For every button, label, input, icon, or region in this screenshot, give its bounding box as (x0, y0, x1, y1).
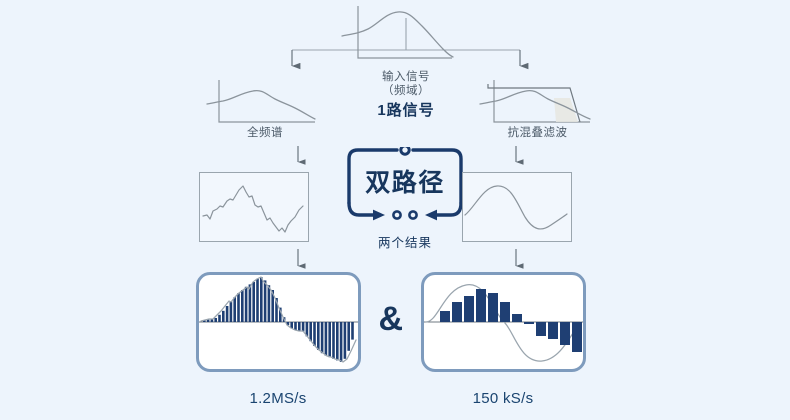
input-signal-label-line2: （频域） (356, 82, 456, 98)
low-rate-sampling-chart (424, 275, 583, 369)
input-chart-axes (358, 6, 452, 58)
dual-path-badge: 双路径 (345, 147, 465, 225)
full-spectrum-axes (219, 80, 315, 122)
high-rate-sampling-chart (199, 275, 358, 369)
badge-bottom-left-arm (349, 203, 373, 215)
full-spectrum-chart (205, 78, 325, 128)
diagram-canvas: 输入信号 （频域） 1路信号 全频谱 抗混叠滤波 (0, 0, 790, 420)
noisy-waveform-path (203, 186, 303, 232)
one-channel-signal-label: 1路信号 (356, 99, 456, 120)
anti-alias-label: 抗混叠滤波 (480, 124, 595, 140)
two-results-label: 两个结果 (355, 232, 455, 251)
time-domain-frame-right (462, 172, 572, 242)
rate-label-low: 150 kS/s (453, 390, 553, 407)
badge-bottom-right-arm (437, 203, 461, 215)
sampling-box-low-rate (421, 272, 586, 372)
full-spectrum-curve (207, 91, 315, 119)
badge-arrow-left (425, 210, 437, 221)
badge-top-dot (401, 147, 409, 154)
input-signal-chart (340, 4, 460, 66)
sine-waveform-path (465, 186, 567, 229)
badge-dot-right (409, 211, 416, 218)
high-rate-bars (203, 277, 354, 362)
anti-alias-chart (478, 78, 603, 128)
conjunction-ampersand: & (366, 300, 416, 339)
badge-arrow-right (373, 210, 385, 221)
rate-label-high: 1.2MS/s (228, 390, 328, 407)
full-spectrum-label: 全频谱 (215, 124, 315, 140)
badge-dot-left (393, 211, 400, 218)
noisy-waveform-chart (200, 173, 306, 239)
low-rate-bars (440, 289, 582, 352)
time-domain-frame-left (199, 172, 309, 242)
dual-path-badge-label: 双路径 (345, 163, 465, 199)
sampling-box-high-rate (196, 272, 361, 372)
input-chart-curve (342, 12, 453, 57)
sine-waveform-chart (463, 173, 569, 239)
